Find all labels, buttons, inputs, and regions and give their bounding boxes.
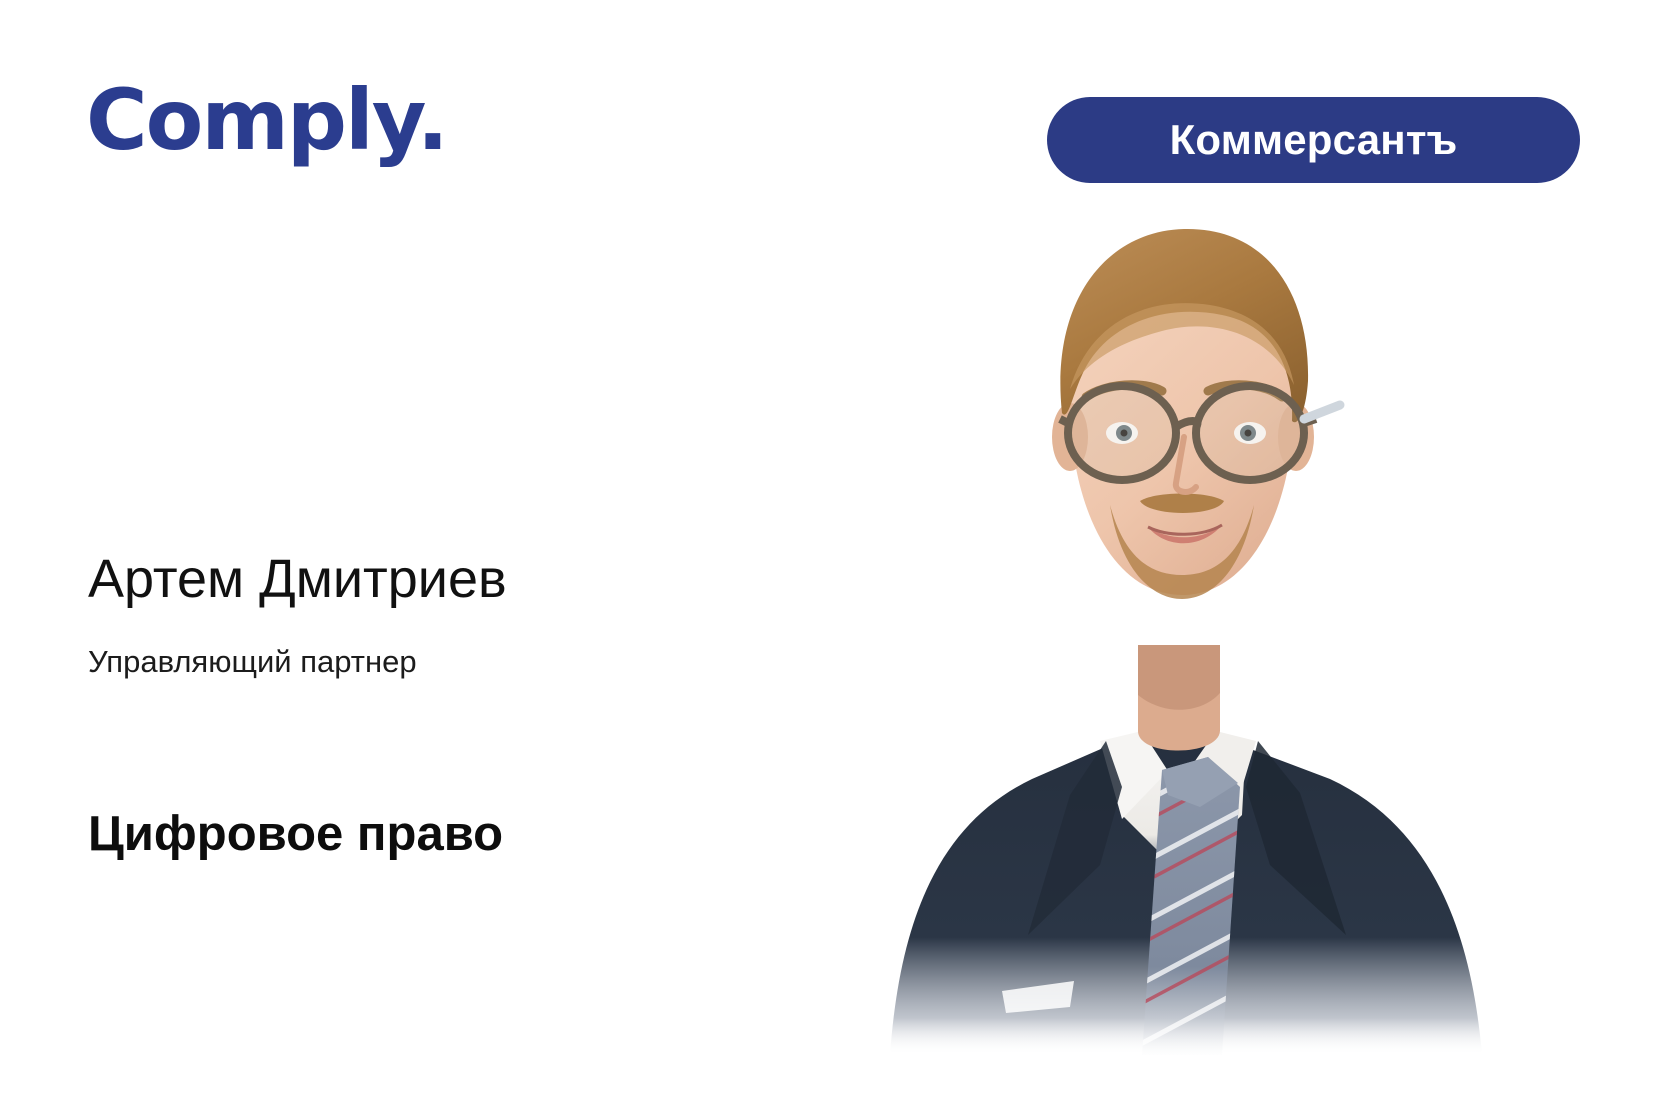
comply-logo: Comply. bbox=[86, 78, 447, 162]
speaker-card: Comply. Коммерсантъ bbox=[0, 0, 1680, 1116]
speaker-portrait bbox=[770, 175, 1670, 1055]
topic-title: Цифровое право bbox=[88, 805, 728, 864]
source-badge-label: Коммерсантъ bbox=[1170, 119, 1458, 161]
speaker-info: Артем Дмитриев Управляющий партнер Цифро… bbox=[88, 548, 728, 864]
speaker-name: Артем Дмитриев bbox=[88, 548, 728, 612]
source-badge: Коммерсантъ bbox=[1047, 97, 1580, 183]
speaker-role: Управляющий партнер bbox=[88, 643, 728, 680]
